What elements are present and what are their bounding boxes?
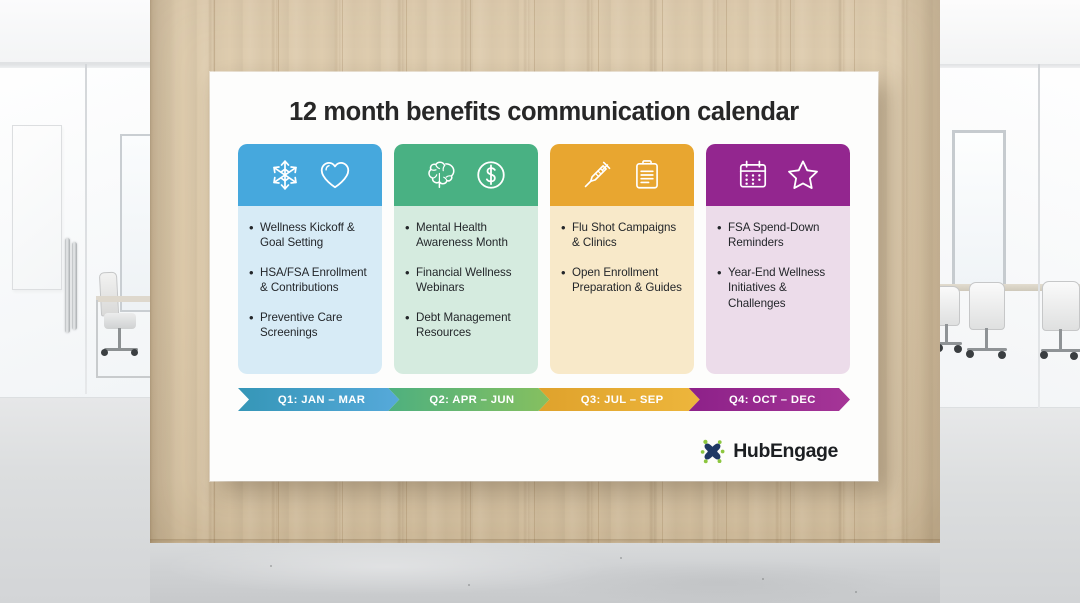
floor-speck xyxy=(620,557,622,559)
conference-chair-post xyxy=(1059,329,1062,351)
list-item: Debt Management Resources xyxy=(405,310,526,341)
quarter-label-q4: Q4: OCT – DEC xyxy=(723,394,816,406)
conference-chair-caster xyxy=(1070,352,1078,360)
conference-chair xyxy=(969,282,1005,330)
quarter-cards-row: Wellness Kickoff & Goal Setting HSA/FSA … xyxy=(238,144,850,374)
bullet-list-q2: Mental Health Awareness Month Financial … xyxy=(405,220,526,340)
quarter-label-q1: Q1: JAN – MAR xyxy=(272,394,365,406)
left-desk-frame xyxy=(96,300,152,378)
quarter-segment-q3[interactable]: Q3: JUL – SEP xyxy=(539,388,700,411)
left-window xyxy=(120,134,152,312)
list-item: Open Enrollment Preparation & Guides xyxy=(561,265,682,296)
quarter-card-q3[interactable]: Flu Shot Campaigns & Clinics Open Enroll… xyxy=(550,144,694,374)
right-glass-mullion xyxy=(1038,64,1040,408)
list-item: Year-End Wellness Initiatives & Challeng… xyxy=(717,265,838,311)
quarter-label-q2: Q2: APR – JUN xyxy=(423,394,514,406)
brain-icon xyxy=(424,158,458,192)
logo-wordmark: HubEngage xyxy=(733,440,838,463)
quarter-card-q1-header xyxy=(238,144,382,206)
right-window xyxy=(952,130,1006,290)
benefits-calendar-poster: 12 month benefits communication calendar xyxy=(210,72,878,481)
quarter-segment-q2[interactable]: Q2: APR – JUN xyxy=(388,388,549,411)
quarter-card-q4[interactable]: FSA Spend-Down Reminders Year-End Wellne… xyxy=(706,144,850,374)
quarter-card-q2-body: Mental Health Awareness Month Financial … xyxy=(394,206,538,374)
left-floor xyxy=(0,398,152,603)
right-ceiling xyxy=(938,0,1080,66)
star-icon xyxy=(786,158,820,192)
conference-chair-caster xyxy=(998,351,1006,359)
floor-speck xyxy=(762,578,764,580)
calendar-icon xyxy=(736,158,770,192)
bullet-list-q4: FSA Spend-Down Reminders Year-End Wellne… xyxy=(717,220,838,311)
conference-chair-caster xyxy=(966,350,974,358)
syringe-icon xyxy=(580,158,614,192)
bullet-list-q1: Wellness Kickoff & Goal Setting HSA/FSA … xyxy=(249,220,370,340)
quarter-card-q4-header xyxy=(706,144,850,206)
quarter-segment-q4[interactable]: Q4: OCT – DEC xyxy=(689,388,850,411)
list-item: HSA/FSA Enrollment & Contributions xyxy=(249,265,370,296)
brand-logo: HubEngage xyxy=(238,438,850,467)
quarter-card-q2[interactable]: Mental Health Awareness Month Financial … xyxy=(394,144,538,374)
glass-door-handle-inner xyxy=(72,242,77,330)
list-item: Preventive Care Screenings xyxy=(249,310,370,341)
conference-chair-caster xyxy=(954,345,962,353)
list-item: Mental Health Awareness Month xyxy=(405,220,526,251)
floor-speck xyxy=(270,565,272,567)
list-item: Wellness Kickoff & Goal Setting xyxy=(249,220,370,251)
left-chair-caster xyxy=(131,349,138,356)
quarter-label-q3: Q3: JUL – SEP xyxy=(575,394,664,406)
page-title: 12 month benefits communication calendar xyxy=(238,98,850,127)
conference-chair-caster xyxy=(1040,351,1048,359)
glass-door-handle-outer xyxy=(65,238,70,333)
wood-wall-shadow-right xyxy=(900,0,940,543)
left-chair-caster xyxy=(101,349,108,356)
heart-icon xyxy=(318,158,352,192)
quarter-card-q3-body: Flu Shot Campaigns & Clinics Open Enroll… xyxy=(550,206,694,374)
quarter-timeline-ribbon: Q1: JAN – MAR Q2: APR – JUN Q3: JUL – SE… xyxy=(238,388,850,411)
left-ceiling xyxy=(0,0,152,64)
quarter-card-q2-header xyxy=(394,144,538,206)
dollar-coin-icon xyxy=(474,158,508,192)
concrete-floor xyxy=(150,543,940,603)
list-item: Flu Shot Campaigns & Clinics xyxy=(561,220,682,251)
floor-speck xyxy=(468,584,470,586)
wood-wall-shadow-left xyxy=(150,0,176,543)
bullet-list-q3: Flu Shot Campaigns & Clinics Open Enroll… xyxy=(561,220,682,296)
whiteboard xyxy=(12,125,62,290)
conference-chair-post xyxy=(945,324,948,344)
conference-chair-post xyxy=(985,328,988,350)
quarter-card-q1[interactable]: Wellness Kickoff & Goal Setting HSA/FSA … xyxy=(238,144,382,374)
conference-chair xyxy=(1042,281,1080,331)
office-scene: 12 month benefits communication calendar xyxy=(0,0,1080,603)
clipboard-icon xyxy=(630,158,664,192)
right-floor xyxy=(938,408,1080,603)
quarter-segment-q1[interactable]: Q1: JAN – MAR xyxy=(238,388,399,411)
snowflake-icon xyxy=(268,158,302,192)
left-office-area xyxy=(0,0,152,603)
list-item: FSA Spend-Down Reminders xyxy=(717,220,838,251)
right-conference-room xyxy=(938,0,1080,603)
list-item: Financial Wellness Webinars xyxy=(405,265,526,296)
left-glass-mullion xyxy=(85,64,87,394)
quarter-card-q3-header xyxy=(550,144,694,206)
hubengage-logo-icon xyxy=(699,438,726,465)
floor-speck xyxy=(855,591,857,593)
quarter-card-q1-body: Wellness Kickoff & Goal Setting HSA/FSA … xyxy=(238,206,382,374)
quarter-card-q4-body: FSA Spend-Down Reminders Year-End Wellne… xyxy=(706,206,850,374)
left-chair-post xyxy=(118,328,121,350)
